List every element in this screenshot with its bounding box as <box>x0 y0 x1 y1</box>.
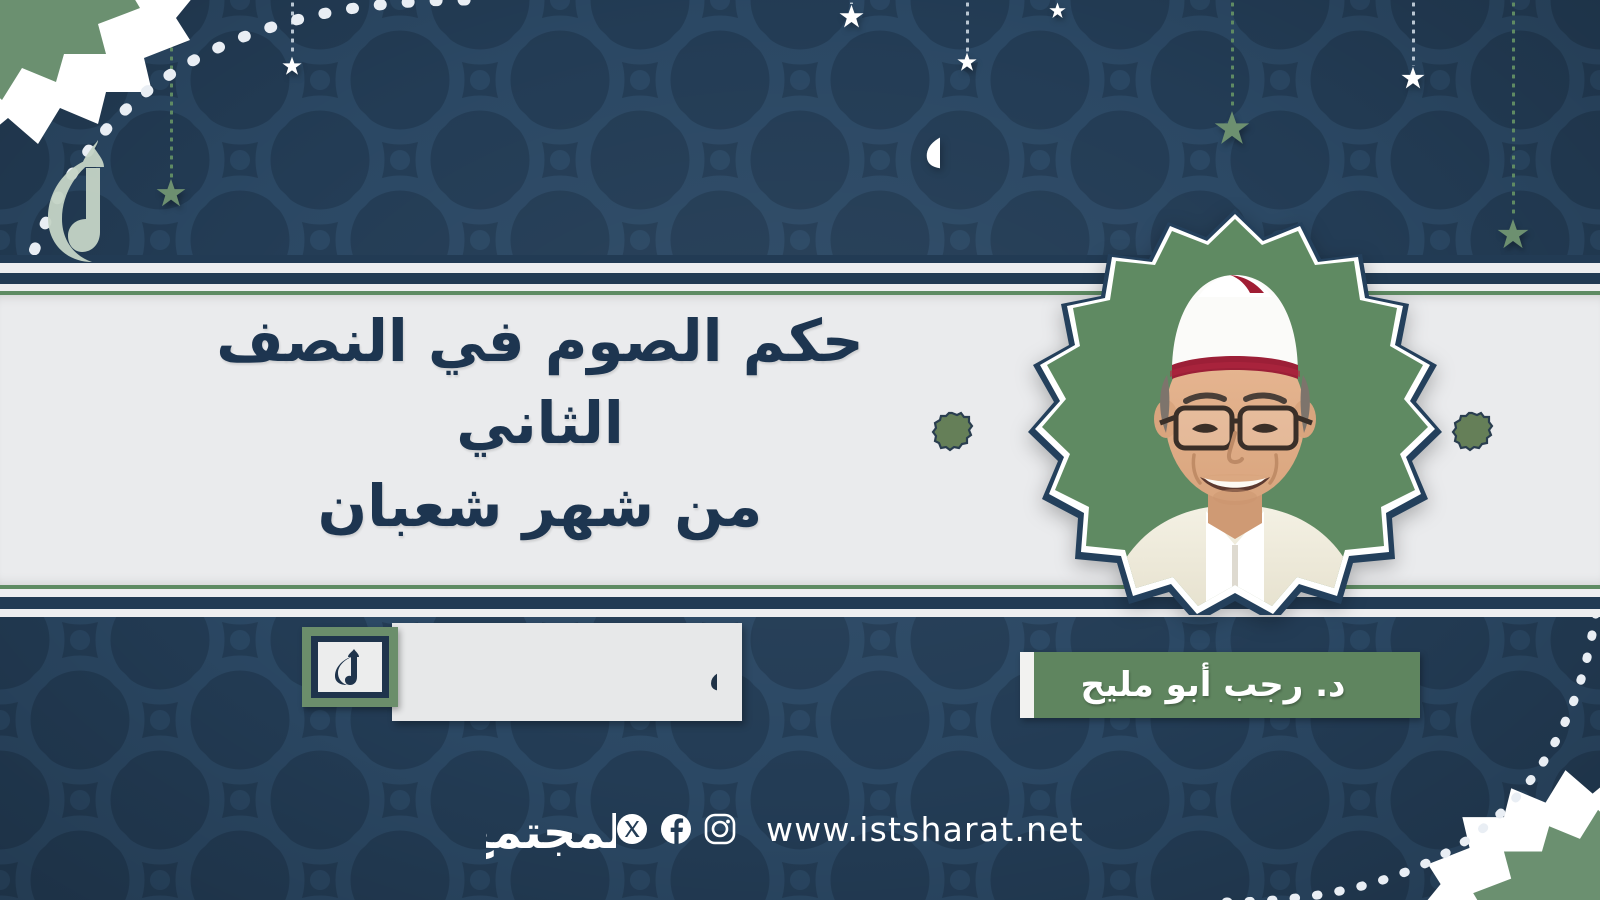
x-icon[interactable] <box>616 813 648 845</box>
speaker-portrait <box>1000 205 1470 615</box>
speaker-nameplate: د. رجب أبو مليح <box>1020 652 1420 718</box>
poster-canvas: بوابة الاستشارات الإلكترونية حكم الصوم ف… <box>0 0 1600 900</box>
scalloped-dot-ornament-left <box>930 410 974 454</box>
page-title: حكم الصوم في النصف الثاني من شهر شعبان <box>180 300 900 547</box>
category-badge-logo <box>302 627 398 707</box>
speaker-name: د. رجب أبو مليح <box>1081 665 1360 705</box>
page-title-line-2: من شهر شعبان <box>180 465 900 547</box>
category-badge-logo-chip <box>318 642 382 692</box>
category-badge-label: استشارات فقهية <box>707 634 717 707</box>
network-logo: المجتمع <box>486 786 616 872</box>
social-links <box>616 813 736 845</box>
crescent-minaret-icon <box>333 648 367 686</box>
category-badge: استشارات فقهية <box>302 623 742 735</box>
brand-calligraphy: بوابة الاستشارات الإلكترونية <box>200 58 940 213</box>
category-badge-plate: استشارات فقهية <box>392 623 742 721</box>
instagram-icon[interactable] <box>704 813 736 845</box>
page-title-line-1: حكم الصوم في النصف الثاني <box>216 307 864 457</box>
website-url[interactable]: www.istsharat.net <box>766 810 1084 849</box>
footer: المجتمع www.istsharat.net <box>0 786 1600 872</box>
category-badge-logo-inner <box>311 636 389 698</box>
facebook-icon[interactable] <box>660 813 692 845</box>
network-logo-text: المجتمع <box>486 805 616 859</box>
brand-calligraphy-text: بوابة الاستشارات الإلكترونية <box>920 73 940 196</box>
